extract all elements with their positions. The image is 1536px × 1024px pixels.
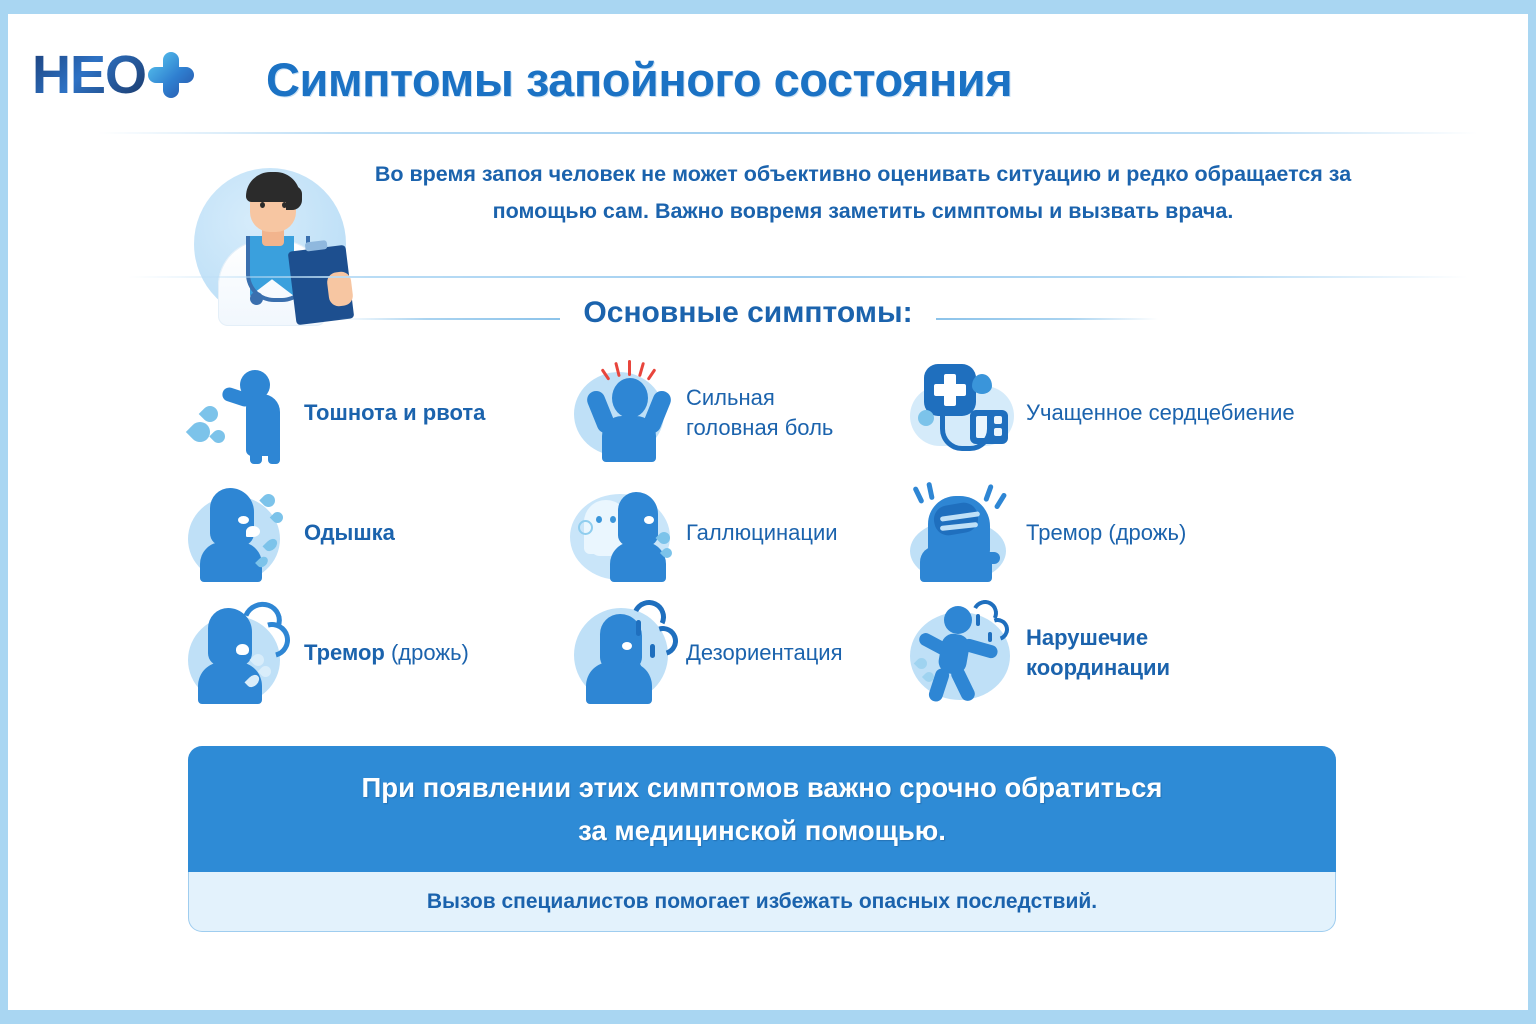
intro-text: Во время запоя человек не может объектив… [338, 156, 1388, 230]
call-to-action-banner: При появлении этих симптомов важно срочн… [188, 746, 1336, 872]
symptoms-grid: Тошнота и рвота Сильная головная боль [188, 354, 1348, 714]
symptom-label: Тремор (дрожь) [304, 638, 469, 668]
symptom-item: Нарушечие координации [910, 594, 1170, 712]
intro-divider [128, 276, 1468, 278]
plus-cross-icon [148, 52, 194, 98]
symptom-item: Тошнота и рвота [188, 354, 485, 472]
symptom-item: Дезориентация [570, 594, 843, 712]
symptom-item: Учащенное сердцебиение [910, 354, 1295, 472]
brand-logo: НЕО [32, 48, 194, 102]
symptom-label: Учащенное сердцебиение [1026, 398, 1295, 428]
symptoms-section-header: Основные симптомы: [8, 296, 1528, 342]
header-divider [98, 132, 1478, 134]
brand-logo-text: НЕО [32, 48, 146, 102]
symptom-item: Сильная головная боль [570, 354, 833, 472]
footer-text: Вызов специалистов помогает избежать опа… [427, 890, 1097, 914]
symptom-label: Дезориентация [686, 638, 843, 668]
shaking-head-hands-icon [910, 480, 1022, 586]
confused-thinking-icon [570, 600, 682, 706]
intro-block: Во время запоя человек не может объектив… [188, 142, 1388, 267]
sweating-tremor-icon [188, 600, 300, 706]
banner-text: При появлении этих симптомов важно срочн… [362, 766, 1163, 852]
symptom-label: Сильная головная боль [686, 383, 833, 443]
footer-note: Вызов специалистов помогает избежать опа… [188, 872, 1336, 932]
section-rule-right [936, 318, 1158, 320]
breathless-person-icon [188, 480, 300, 586]
section-rule-left [338, 318, 560, 320]
symptom-label: Тремор (дрожь) [1026, 518, 1186, 548]
infographic-page: НЕО Симптомы запойного состояния Во врем… [8, 14, 1528, 1010]
person-vomiting-icon [188, 360, 300, 466]
headache-person-icon [570, 360, 682, 466]
stumbling-person-icon [910, 600, 1022, 706]
symptom-label: Одышка [304, 518, 395, 548]
section-title: Основные симптомы: [560, 296, 936, 330]
symptom-item: Тремор (дрожь) [188, 594, 469, 712]
symptom-item: Тремор (дрожь) [910, 474, 1186, 592]
heart-monitor-cross-icon [910, 360, 1022, 466]
symptom-label: Галлюцинации [686, 518, 838, 548]
symptom-item: Одышка [188, 474, 395, 592]
symptom-label: Нарушечие координации [1026, 623, 1170, 683]
ghost-hallucination-icon [570, 480, 682, 586]
page-title: Симптомы запойного состояния [266, 52, 1012, 107]
symptom-item: Галлюцинации [570, 474, 838, 592]
header: НЕО Симптомы запойного состояния [8, 14, 1528, 118]
symptom-label: Тошнота и рвота [304, 398, 485, 428]
